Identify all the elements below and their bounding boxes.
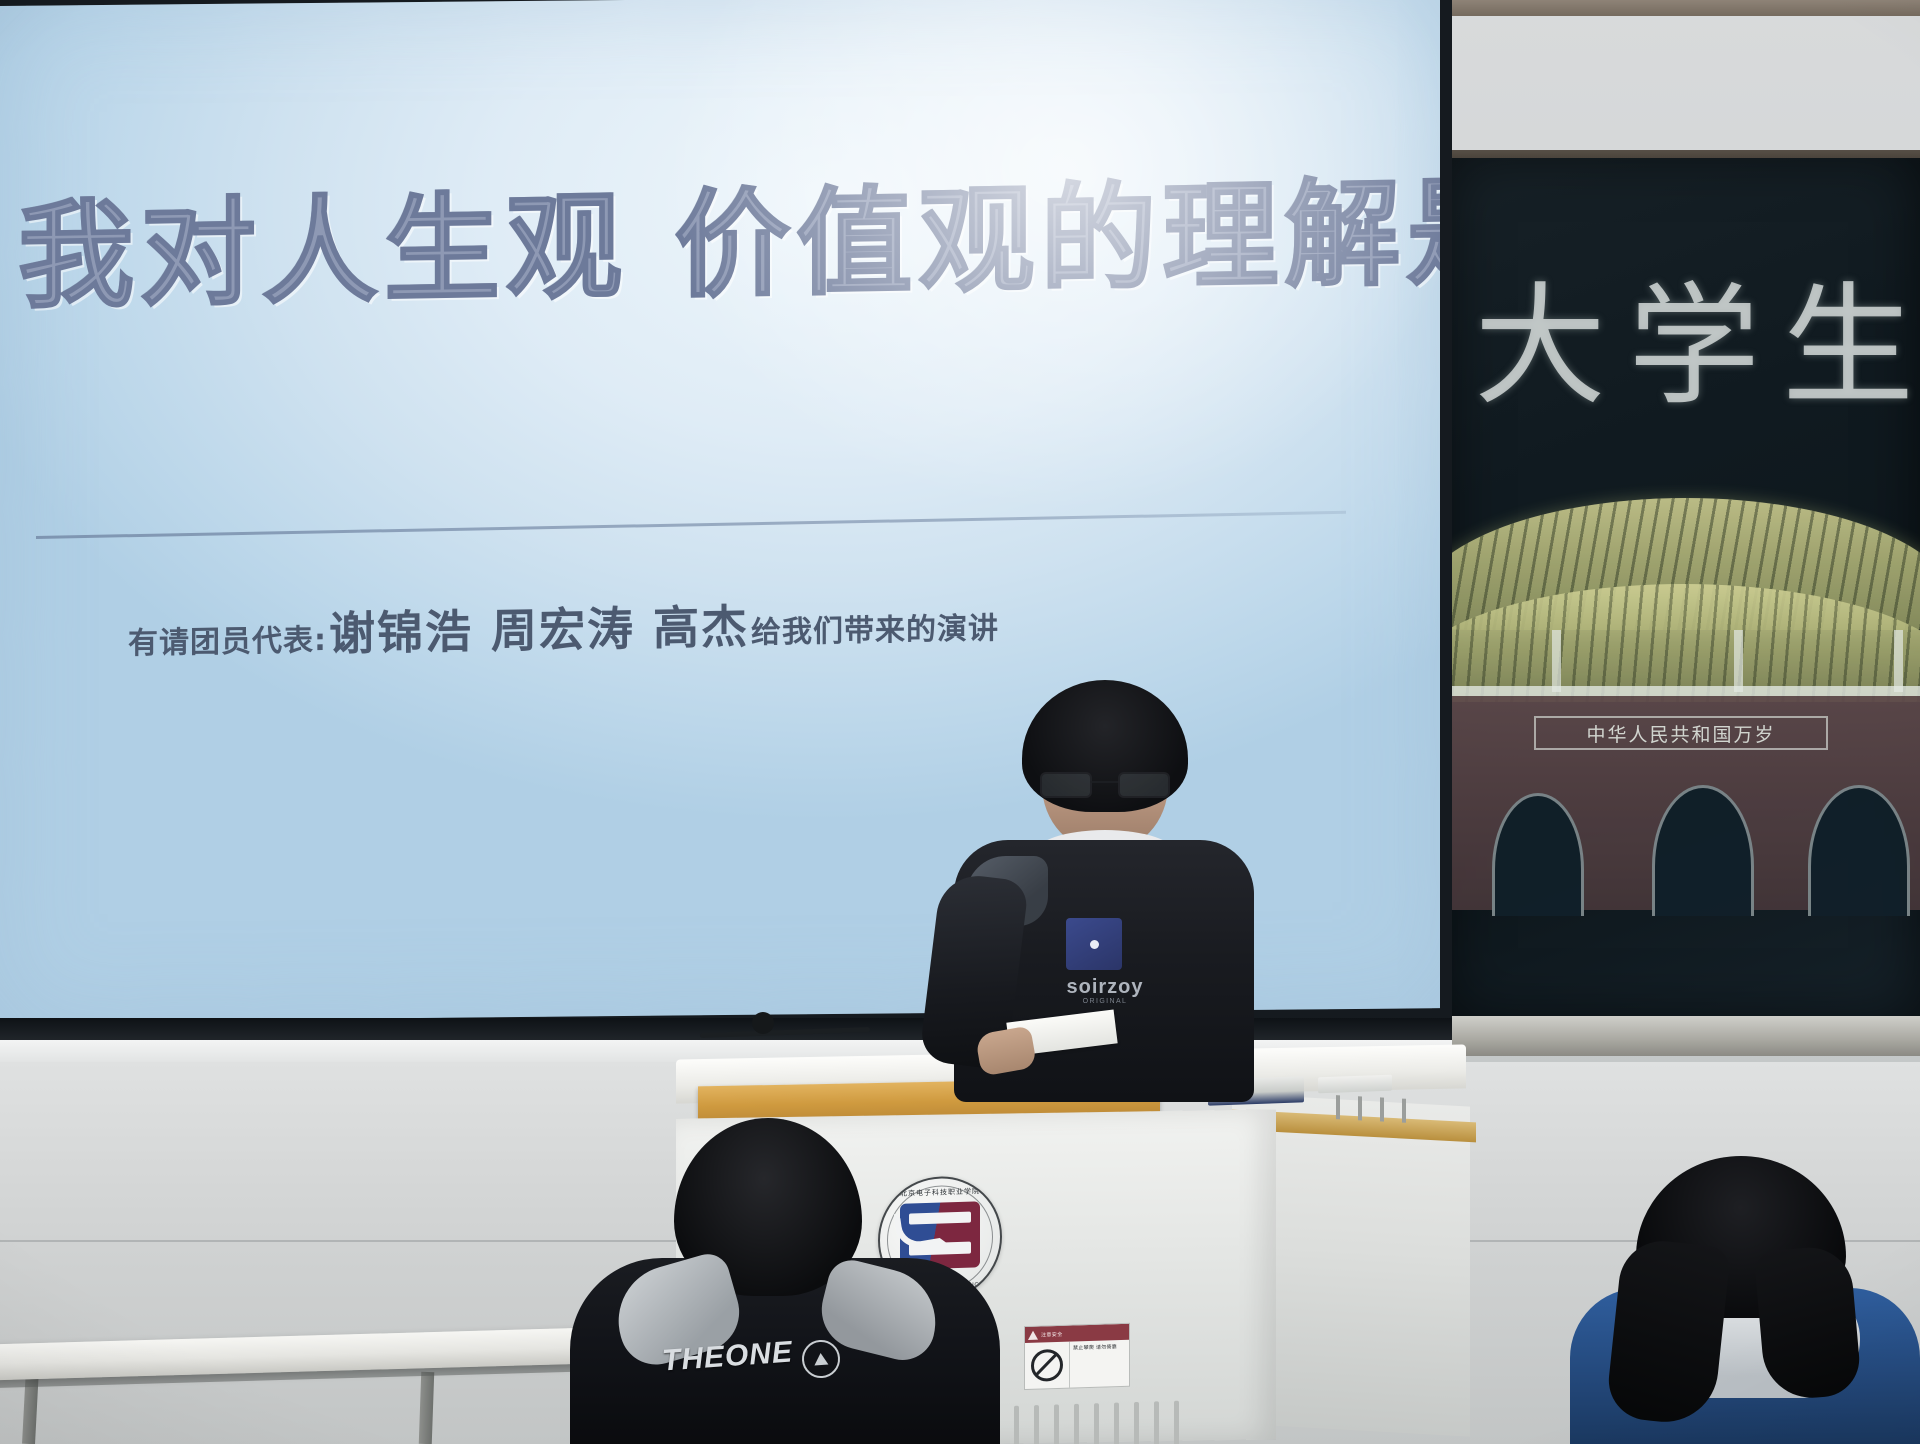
vent-slat bbox=[1094, 1403, 1099, 1444]
warning-triangle-icon bbox=[1028, 1330, 1038, 1339]
microphone-head-icon bbox=[752, 1012, 774, 1034]
shirt-logo-icon bbox=[1066, 918, 1122, 970]
gate-arch bbox=[1808, 785, 1910, 916]
warning-title-text: 注意安全 bbox=[1041, 1330, 1063, 1338]
glasses-right-lens bbox=[1118, 772, 1170, 798]
slide-subtitle: 有请团员代表:谢锦浩 周宏涛 高杰给我们带来的演讲 bbox=[128, 581, 1308, 668]
shirt-logo-dot bbox=[1090, 940, 1099, 949]
slide-subtitle-suffix: 给我们带来的演讲 bbox=[751, 611, 999, 650]
speaker-figure: soirzoy ORIGINAL bbox=[930, 680, 1270, 1100]
vent-slat bbox=[1054, 1404, 1059, 1444]
glasses-icon bbox=[1038, 772, 1172, 794]
blackboard-chalk-ledge bbox=[1446, 1016, 1920, 1056]
papers-on-podium bbox=[1318, 1075, 1392, 1094]
podium-slot bbox=[1336, 1095, 1340, 1119]
safety-warning-label: 注意安全 禁止攀爬 请勿倚靠 bbox=[1024, 1323, 1130, 1390]
vent-slat bbox=[1154, 1401, 1159, 1444]
slide-subtitle-prefix: 有请团员代表: bbox=[128, 623, 327, 661]
gate-pillar bbox=[1552, 630, 1561, 692]
podium-slot bbox=[1402, 1099, 1406, 1123]
prohibition-icon bbox=[1031, 1349, 1063, 1382]
podium-slot bbox=[1380, 1097, 1384, 1121]
warning-label-body: 禁止攀爬 请勿倚靠 bbox=[1025, 1340, 1129, 1389]
glasses-bridge bbox=[1090, 781, 1120, 783]
vent-slat bbox=[1034, 1405, 1039, 1444]
vent-slat bbox=[1114, 1403, 1119, 1444]
blackboard: 大学生 中华人民共和国万岁 bbox=[1446, 150, 1920, 1020]
audience-student-right bbox=[1570, 1156, 1920, 1444]
blackboard-surface: 大学生 中华人民共和国万岁 bbox=[1446, 150, 1920, 1020]
gate-arch bbox=[1652, 785, 1754, 916]
gate-arch bbox=[1492, 793, 1584, 916]
shirt-brand-subtext: ORIGINAL bbox=[1050, 998, 1160, 1005]
gate-pillar bbox=[1894, 630, 1903, 692]
vent-slat bbox=[1074, 1404, 1079, 1444]
podium-slot bbox=[1358, 1096, 1362, 1120]
desk-leg bbox=[419, 1372, 435, 1444]
vent-slat bbox=[1174, 1401, 1179, 1444]
gate-pillar bbox=[1734, 630, 1743, 692]
classroom-photo-scene: 大学生 中华人民共和国万岁 我对人生观 价值观的理解是？ bbox=[0, 0, 1920, 1444]
slide-subtitle-names: 谢锦浩 周宏涛 高杰 bbox=[327, 600, 751, 661]
gate-balustrade bbox=[1446, 686, 1920, 696]
slide-divider-rule bbox=[36, 511, 1346, 539]
blackboard-chalk-heading: 大学生 bbox=[1474, 240, 1920, 431]
warning-icon-cell bbox=[1025, 1342, 1070, 1389]
vent-slat bbox=[1134, 1402, 1139, 1444]
warning-body-text: 禁止攀爬 请勿倚靠 bbox=[1070, 1340, 1129, 1388]
audience-student-left: THEONE bbox=[570, 1118, 1000, 1444]
vent-slat bbox=[1014, 1406, 1019, 1444]
glasses-left-lens bbox=[1040, 772, 1092, 798]
tiananmen-gate-icon: 中华人民共和国万岁 bbox=[1446, 480, 1920, 910]
shirt-brand-text: soirzoy bbox=[1050, 976, 1160, 999]
slide-title: 我对人生观 价值观的理解是？ bbox=[18, 174, 1418, 319]
blackboard-top-trim bbox=[1446, 150, 1920, 158]
gate-banner-text: 中华人民共和国万岁 bbox=[1534, 716, 1828, 750]
